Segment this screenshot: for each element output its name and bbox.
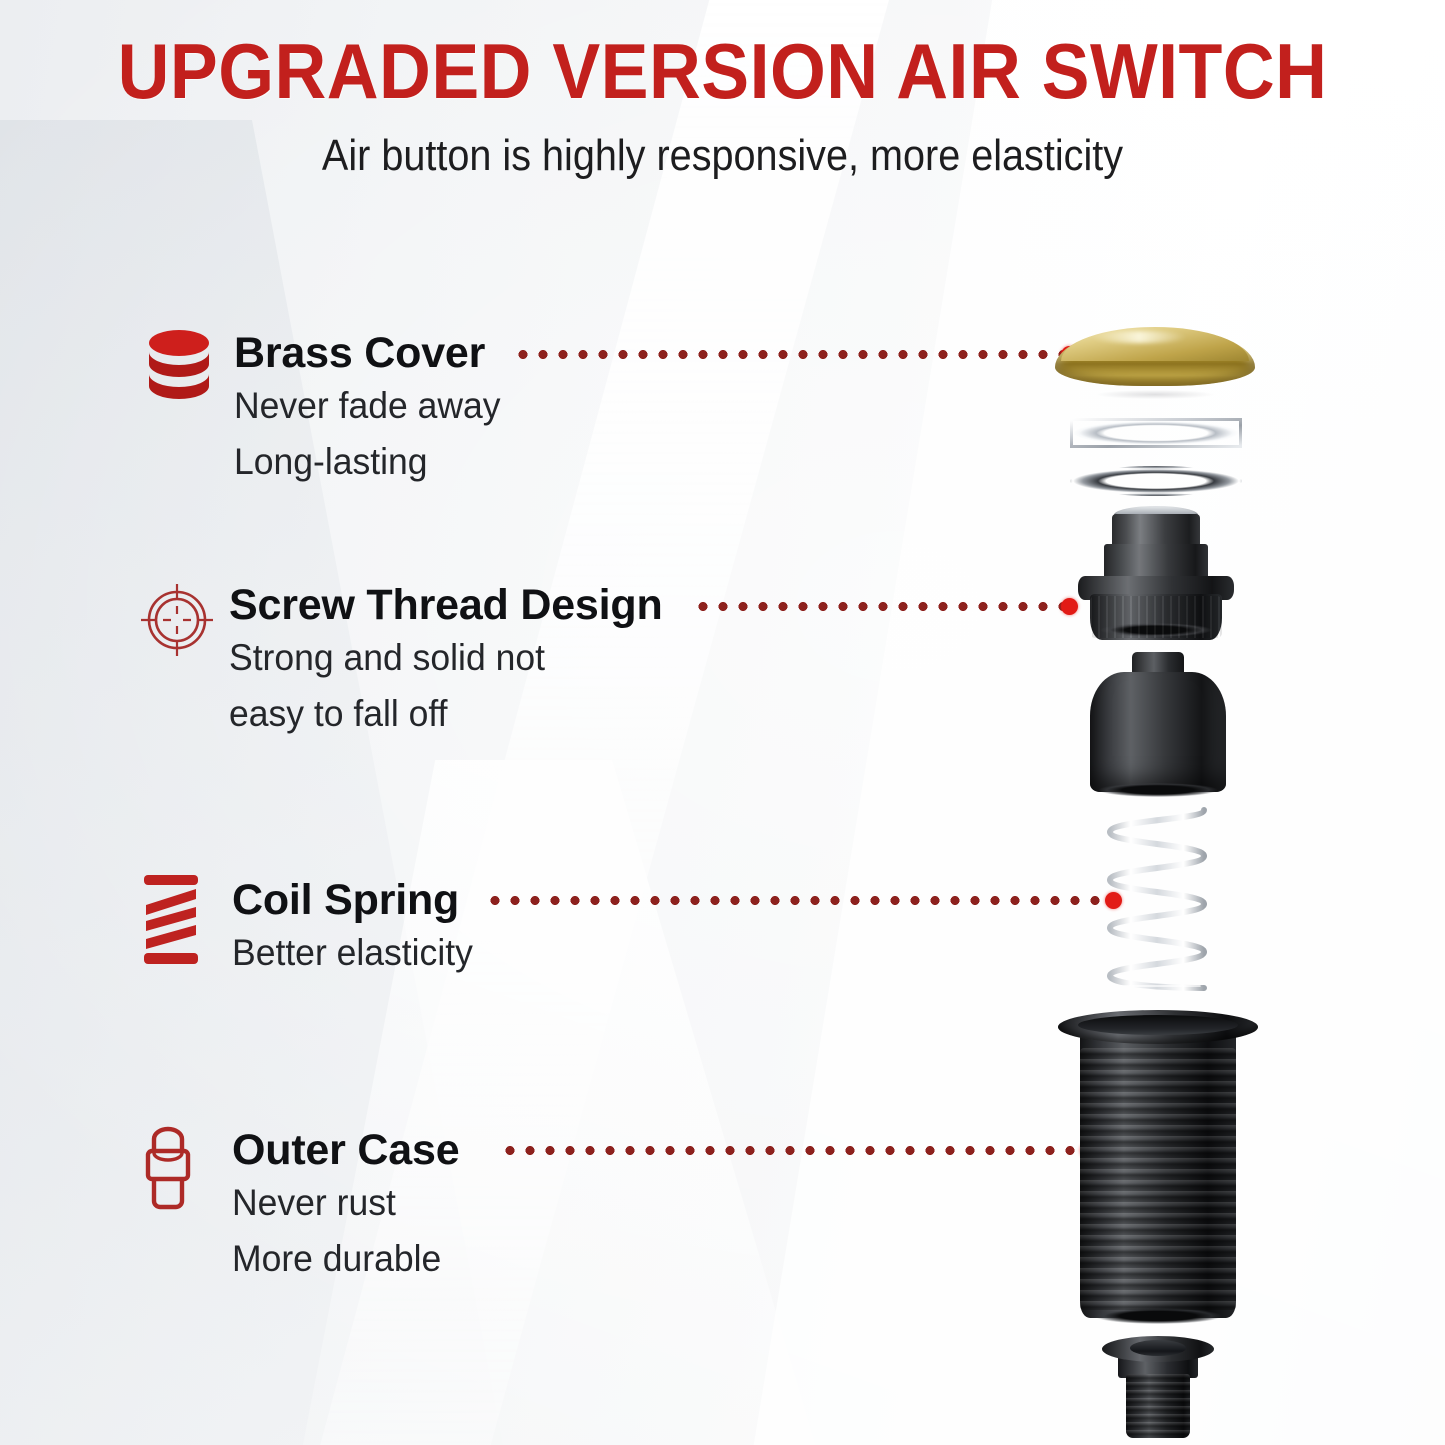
threaded-nut-knurling: [1090, 596, 1222, 638]
crosshair-target-icon: [135, 578, 213, 667]
feature-line: More durable: [232, 1231, 450, 1287]
feature-text: Outer Case Never rust More durable: [232, 1123, 459, 1287]
feature-brass-cover: Brass Cover Never fade away Long-lasting: [140, 326, 512, 490]
feature-title: Brass Cover: [234, 328, 512, 378]
part-coil-spring: [1092, 798, 1222, 998]
feature-title: Outer Case: [232, 1125, 459, 1175]
plunger-bell-body: [1090, 672, 1226, 792]
feature-text: Coil Spring Better elasticity: [232, 873, 483, 981]
feature-text: Brass Cover Never fade away Long-lasting: [234, 326, 512, 490]
page-title: UPGRADED VERSION AIR SWITCH: [58, 29, 1387, 113]
feature-title: Coil Spring: [232, 875, 483, 925]
feature-text: Screw Thread Design Strong and solid not…: [229, 578, 663, 742]
leader-dots: [513, 350, 1063, 359]
feature-screw-thread-design: Screw Thread Design Strong and solid not…: [135, 578, 663, 742]
infographic-canvas: UPGRADED VERSION AIR SWITCH Air button i…: [0, 0, 1445, 1445]
header: UPGRADED VERSION AIR SWITCH Air button i…: [0, 0, 1445, 181]
product-exploded-view: [1020, 300, 1300, 1445]
feature-outer-case: Outer Case Never rust More durable: [138, 1123, 459, 1287]
bottom-fitting-threads: [1126, 1374, 1190, 1438]
feature-coil-spring: Coil Spring Better elasticity: [138, 873, 483, 981]
brass-cover-highlight: [1091, 331, 1187, 343]
feature-line: Long-lasting: [234, 434, 501, 490]
outer-case-threads: [1080, 1048, 1236, 1310]
disc-stack-icon: [140, 326, 218, 409]
part-outer-case: [1058, 1010, 1258, 1330]
part-threaded-nut: [1076, 506, 1236, 642]
leader-dots: [693, 602, 1063, 611]
feature-line: easy to fall off: [229, 686, 645, 742]
part-chrome-ring: [1070, 418, 1242, 448]
black-ring-body: [1070, 466, 1242, 496]
part-brass-cover: [1055, 328, 1255, 386]
leader-line-outer-case: [500, 1144, 1097, 1156]
part-plunger-bell: [1088, 652, 1228, 792]
feature-line: Better elasticity: [232, 925, 473, 981]
leader-dots: [485, 896, 1107, 905]
leader-dots: [500, 1146, 1082, 1155]
page-subtitle: Air button is highly responsive, more el…: [72, 131, 1373, 181]
canister-outline-icon: [138, 1123, 216, 1224]
bottom-fitting-head: [1102, 1336, 1214, 1362]
part-bottom-fitting: [1102, 1336, 1214, 1444]
spring-coil-icon: [138, 873, 216, 974]
feature-line: Strong and solid not: [229, 630, 645, 686]
feature-line: Never rust: [232, 1175, 450, 1231]
brass-cover-shadow: [1072, 388, 1238, 401]
chrome-ring-body: [1070, 418, 1242, 448]
feature-line: Never fade away: [234, 378, 501, 434]
leader-line-brass-cover: [513, 348, 1078, 360]
threaded-nut-top: [1112, 514, 1200, 548]
part-black-ring: [1070, 466, 1242, 496]
outer-case-flange: [1058, 1010, 1258, 1044]
feature-title: Screw Thread Design: [229, 580, 663, 630]
